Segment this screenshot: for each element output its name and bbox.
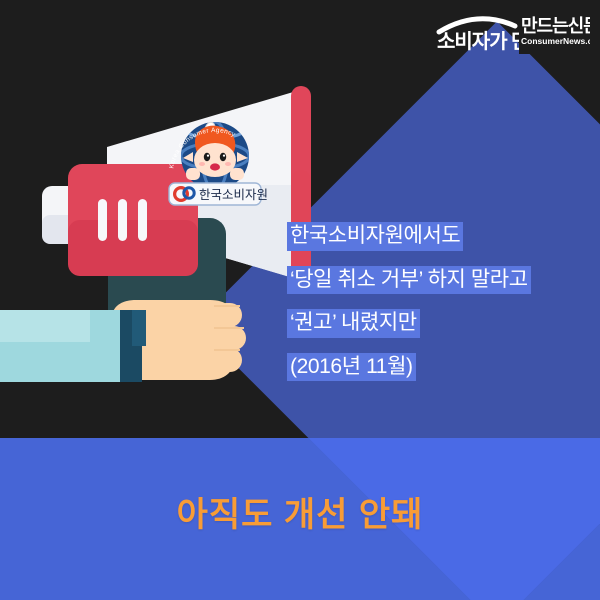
brand-url: ConsumerNews.co.kr bbox=[521, 36, 590, 46]
body-line-4: (2016년 11월) bbox=[287, 353, 416, 382]
body-line-2: ‘당일 취소 거부’ 하지 말라고 bbox=[287, 266, 531, 295]
infographic-card: Korea Consumer Agency 한국소비자원 소비자가 만드는 신문… bbox=[0, 0, 600, 600]
body-line-row: (2016년 11월) bbox=[287, 353, 592, 397]
newspaper-logo-icon: 소비자가 만드는 신문 만드는신문 ConsumerNews.co.kr bbox=[435, 8, 590, 54]
brand-name-right: 만드는신문 bbox=[521, 16, 590, 36]
body-text-block: 한국소비자원에서도 ‘당일 취소 거부’ 하지 말라고 ‘권고’ 내렸지만 (2… bbox=[287, 222, 592, 396]
body-line-1: 한국소비자원에서도 bbox=[287, 222, 463, 251]
korea-consumer-agency-logo-icon: Korea Consumer Agency 한국소비자원 bbox=[159, 112, 271, 212]
body-line-row: ‘당일 취소 거부’ 하지 말라고 bbox=[287, 266, 592, 310]
body-line-row: 한국소비자원에서도 bbox=[287, 222, 592, 266]
body-line-row: ‘권고’ 내렸지만 bbox=[287, 309, 592, 353]
body-line-3: ‘권고’ 내렸지만 bbox=[287, 309, 420, 338]
agency-name: 한국소비자원 bbox=[199, 188, 268, 202]
footer-headline: 아직도 개선 안돼 bbox=[0, 487, 600, 536]
megaphone-icon bbox=[0, 60, 330, 400]
hand-holding-icon bbox=[0, 300, 246, 382]
